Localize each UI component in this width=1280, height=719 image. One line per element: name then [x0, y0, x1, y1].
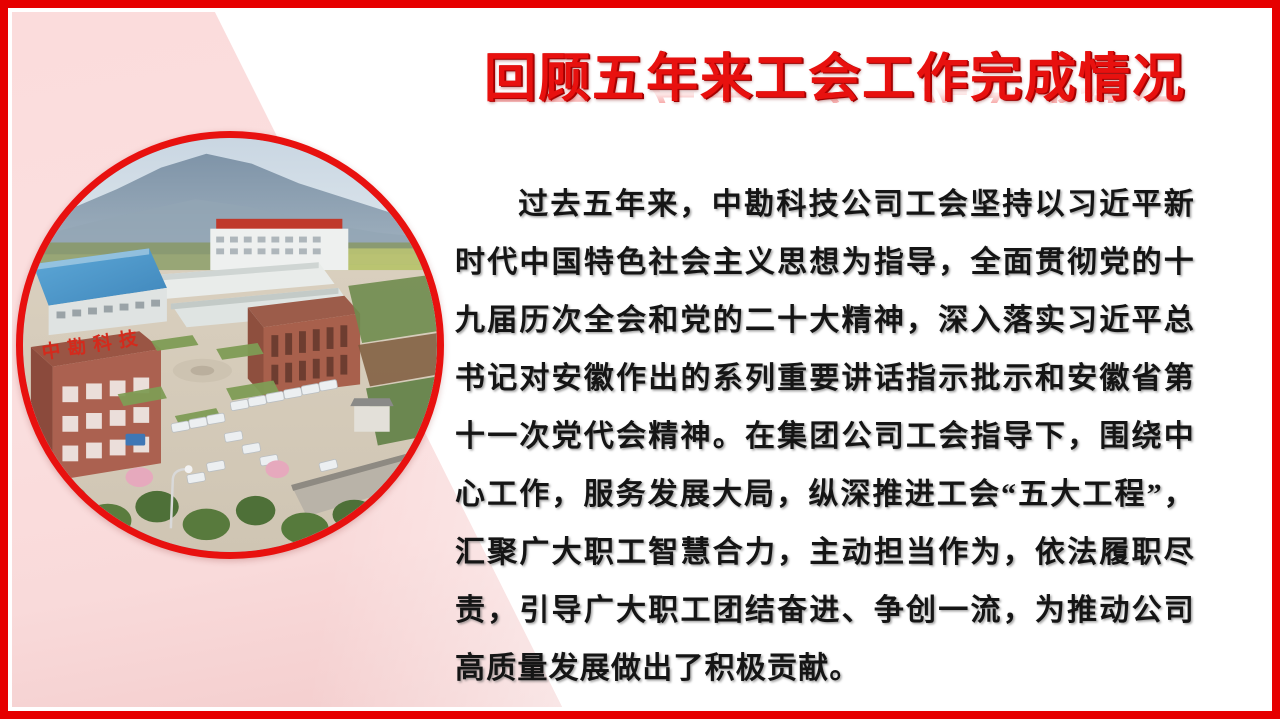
- svg-text:勘: 勘: [66, 335, 87, 358]
- aerial-campus-illustration: 中 勘 科 技: [23, 138, 437, 552]
- campus-photo-circle: 中 勘 科 技: [16, 131, 444, 559]
- body-line: 时代中国特色社会主义思想为指导，全面贯彻党的十: [455, 234, 1195, 292]
- body-line: 九届历次全会和党的二十大精神，深入落实习近平总: [455, 292, 1195, 350]
- campus-photo-image: 中 勘 科 技: [23, 138, 437, 552]
- body-line: 书记对安徽作出的系列重要讲话指示批示和安徽省第: [455, 350, 1195, 408]
- body-paragraph: 过去五年来，中勘科技公司工会坚持以习近平新 时代中国特色社会主义思想为指导，全面…: [455, 176, 1195, 698]
- svg-text:技: 技: [117, 327, 139, 350]
- svg-text:科: 科: [92, 331, 114, 354]
- body-line: 汇聚广大职工智慧合力，主动担当作为，依法履职尽: [455, 524, 1195, 582]
- body-line: 心工作，服务发展大局，纵深推进工会“五大工程”，: [455, 466, 1195, 524]
- body-line: 十一次党代会精神。在集团公司工会指导下，围绕中: [455, 408, 1195, 466]
- body-line: 责，引导广大职工团结奋进、争创一流，为推动公司: [455, 582, 1195, 640]
- presentation-slide: 中 勘 科 技: [0, 0, 1280, 719]
- body-line: 过去五年来，中勘科技公司工会坚持以习近平新: [455, 176, 1195, 234]
- page-title-reflection: 回顾五年来工会工作完成情况: [455, 71, 1215, 103]
- body-line-text: 过去五年来，中勘科技公司工会坚持以习近平新: [517, 188, 1195, 221]
- slide-title-block: 回顾五年来工会工作完成情况 回顾五年来工会工作完成情况: [455, 52, 1215, 135]
- body-line: 高质量发展做出了积极贡献。: [455, 640, 1195, 698]
- svg-text:中: 中: [40, 339, 61, 362]
